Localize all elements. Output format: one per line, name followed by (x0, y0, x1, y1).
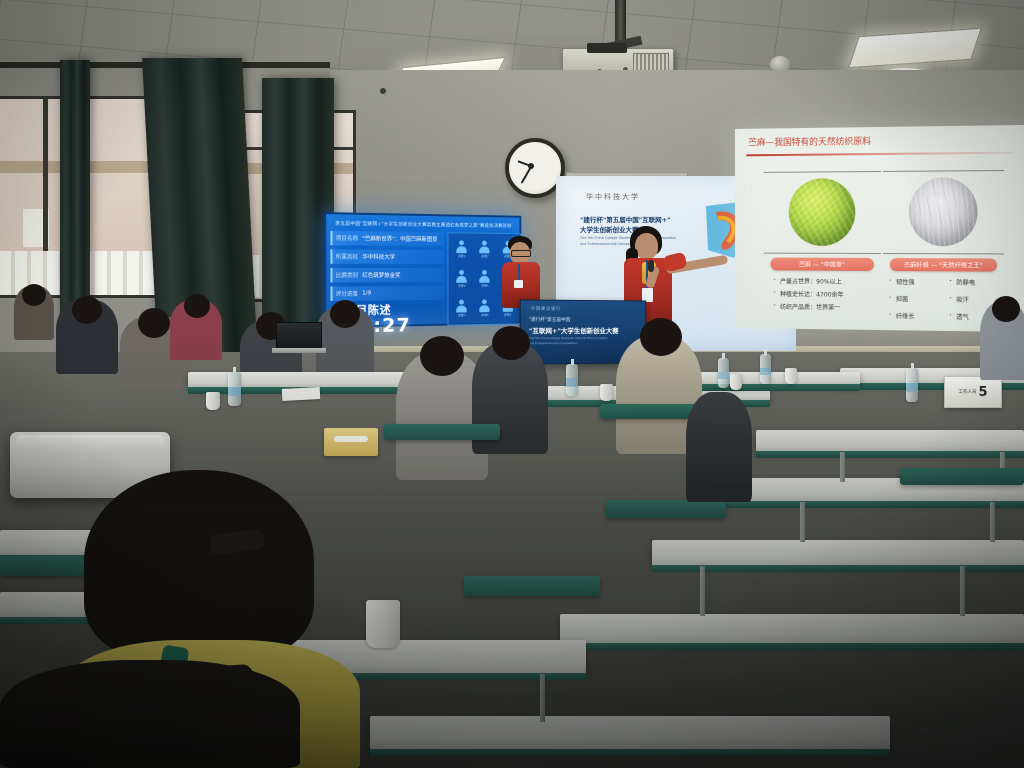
judge-slot: 评委2 (474, 236, 496, 264)
desk-leg (700, 566, 705, 616)
desk-leg (800, 502, 805, 542)
slide-column-right: 苎麻纤维 — "天然纤维之王" 韧性强 防静电 抑菌 吸汗 纤维长 透气 (883, 170, 1004, 326)
desk-edge (712, 501, 1024, 508)
desk-edge (560, 643, 1024, 650)
chair-back (464, 576, 600, 596)
judge-slot: 评委1 (450, 235, 472, 263)
judge-slot: 评委7 (450, 294, 472, 323)
judge-label: 评委1 (458, 254, 466, 258)
led-row-value: 1/9 (362, 290, 371, 296)
backdrop-line-2: 大学生创新创业大赛 (580, 224, 639, 234)
led-row-label: 项目名称 (336, 234, 358, 242)
tent-card-label: 工作人员 (958, 389, 976, 395)
led-row: 评分进度 1/9 (330, 286, 443, 301)
foreground-hair (84, 470, 314, 660)
audience-person-front-right (686, 392, 752, 502)
judge-slot: 评委5 (474, 265, 496, 293)
audience-head (420, 336, 464, 376)
clock-center-pin (528, 163, 534, 169)
slide-pill-left: 苎麻 — "中国草" (770, 258, 874, 271)
laptop-base (272, 348, 326, 353)
slide-col-right-line (883, 253, 1004, 254)
paper-cup[interactable] (206, 392, 220, 410)
ramie-fiber-photo (909, 177, 978, 246)
paper-sheet[interactable] (282, 387, 321, 401)
led-row: 所属高校 华中科技大学 (330, 249, 443, 264)
desk-edge (756, 451, 1024, 458)
water-bottle[interactable] (228, 372, 241, 406)
water-bottle[interactable] (566, 364, 578, 396)
slide-bullet: 抑菌 (889, 294, 943, 304)
desk-edge (652, 565, 1024, 572)
judge-avatar-icon (456, 270, 467, 283)
water-bottle[interactable] (718, 358, 729, 388)
audience-head (330, 300, 360, 328)
judge-label: 评委2 (481, 255, 488, 259)
tissue-box[interactable] (324, 428, 378, 456)
ramie-fiber-texture (909, 177, 978, 246)
ramie-leaf-texture (789, 178, 855, 246)
desk-row-2-left (188, 372, 424, 388)
judge-avatar-icon (456, 299, 467, 312)
judge-avatar-icon (480, 270, 490, 283)
chair-back (384, 424, 500, 440)
slide-col-right-topline (883, 170, 1004, 172)
assistant-lanyard (518, 264, 520, 280)
desk-leg (840, 452, 845, 482)
slide-col-left-line (764, 253, 881, 254)
bottle-label (718, 372, 729, 380)
foreground-shadow-mass (0, 660, 300, 768)
audience-head (138, 308, 170, 338)
desk-edge (370, 749, 890, 756)
led-row-label: 所属高校 (336, 252, 358, 260)
judge-label: 评委4 (458, 284, 466, 288)
desk-leg (960, 566, 965, 616)
slide-bullet: 纺织产品质：世界第一 (773, 302, 881, 312)
judge-slot: 评委4 (450, 265, 472, 293)
judge-avatar-icon (456, 241, 467, 254)
slide-bullets-left: 产量占世界：90%以上 种植史长达：4700余年 纺织产品质：世界第一 (764, 276, 881, 312)
judge-label: 评委7 (458, 313, 466, 317)
projection-screen-slide: 苎麻—我国特有的天然纺织原料 苎麻 — "中国草" 产量占世界：90%以上 种植… (735, 125, 1024, 332)
judge-avatar-icon (480, 299, 490, 312)
led-row: 比赛类别 红色筑梦旅金奖 (330, 268, 443, 282)
staff-tent-card: 工作人员 5 (944, 376, 1002, 408)
audience-head (492, 326, 530, 360)
paper-cup[interactable] (600, 384, 613, 401)
slide-pill-right: 苎麻纤维 — "天然纤维之王" (890, 258, 997, 272)
slide-col-left-topline (764, 171, 881, 173)
judge-label: 评委8 (481, 313, 488, 317)
desk-row-front-right-4 (560, 614, 1024, 644)
assistant-glasses-icon (511, 250, 531, 257)
slide-bullet: 纤维长 (889, 311, 943, 321)
presenter-head (635, 233, 658, 259)
backdrop-line-1: "建行杯"第五届中国"互联网+" (580, 214, 671, 224)
tent-card-number: 5 (978, 386, 987, 399)
tissue-slot (334, 436, 369, 442)
desk-leg (990, 502, 995, 542)
assistant-badge (514, 280, 523, 288)
podium-line-4: and Entrepreneurship Competition (529, 341, 578, 345)
paper-cup[interactable] (785, 368, 797, 384)
bottle-label (566, 378, 578, 386)
desk-row-front-bottom (370, 716, 890, 750)
slide-bullet: 种植史长达：4700余年 (773, 289, 881, 299)
judge-label: 评委5 (481, 284, 488, 288)
projector-cable-bundle (587, 43, 627, 53)
podium-line-3: The 5th China College Students' Internet… (529, 336, 608, 340)
audience-head (992, 296, 1020, 322)
slide-bullet: 韧性强 (889, 277, 943, 286)
audience-head (640, 318, 682, 356)
judge-avatar-icon (480, 241, 490, 254)
podium-line-1: "建行杯"第五届中国 (529, 317, 570, 323)
slide-title-rule (746, 152, 1012, 157)
water-bottle[interactable] (760, 354, 771, 384)
chair-back (900, 468, 1024, 485)
judge-slot: 评委8 (474, 294, 496, 322)
water-bottle[interactable] (906, 368, 918, 402)
podium-line-2: "互联网+"大学生创新创业大赛 (529, 325, 619, 335)
curtain-hook-icon (380, 88, 386, 94)
led-row-value: 红色筑梦旅金奖 (362, 271, 400, 279)
slide-bullet: 产量占世界：90%以上 (773, 276, 881, 286)
bottle-label (760, 368, 771, 376)
bottle-label (228, 387, 241, 396)
clock-face (509, 142, 561, 194)
backdrop-logo: 华中科技大学 (586, 192, 640, 202)
led-row-label: 比赛类别 (336, 271, 358, 279)
bottle-label (906, 383, 918, 392)
desk-row-front-right-1 (756, 430, 1024, 452)
led-row-value: "苎麻新世界"：中国苎麻新图景 (362, 234, 437, 243)
paper-cup-front[interactable] (366, 600, 400, 648)
led-panel-header: 第五届中国"互联网+"大学生创新创业大赛高教主赛道红色筑梦之旅"赛道总决赛答辩 (333, 217, 514, 231)
led-row-value: 华中科技大学 (362, 253, 395, 261)
judge-label: 评委9 (504, 312, 511, 316)
audience-head (72, 296, 102, 324)
slide-column-left: 苎麻 — "中国草" 产量占世界：90%以上 种植史长达：4700余年 纺织产品… (764, 171, 881, 316)
podium-logo: 中国建设银行 (531, 306, 561, 312)
led-row-label: 评分进度 (336, 289, 358, 297)
classroom-scene: 华中科技大学 "建行杯"第五届中国"互联网+" 大学生创新创业大赛 The 5t… (0, 0, 1024, 768)
paper-cup[interactable] (730, 374, 742, 390)
ramie-leaf-photo (789, 178, 855, 246)
led-row: 项目名称 "苎麻新世界"：中国苎麻新图景 (330, 231, 443, 246)
slide-bullet: 防静电 (949, 277, 1004, 287)
storage-box-lid (16, 435, 164, 449)
laptop-screen (276, 322, 322, 350)
chair-back (606, 500, 726, 518)
slide-title: 苎麻—我国特有的天然纺织原料 (748, 134, 871, 148)
desk-row-front-right-3 (652, 540, 1024, 566)
microphone-icon (648, 260, 654, 272)
audience-head (184, 294, 210, 318)
desk-leg (540, 674, 545, 722)
audience-head (22, 284, 46, 306)
